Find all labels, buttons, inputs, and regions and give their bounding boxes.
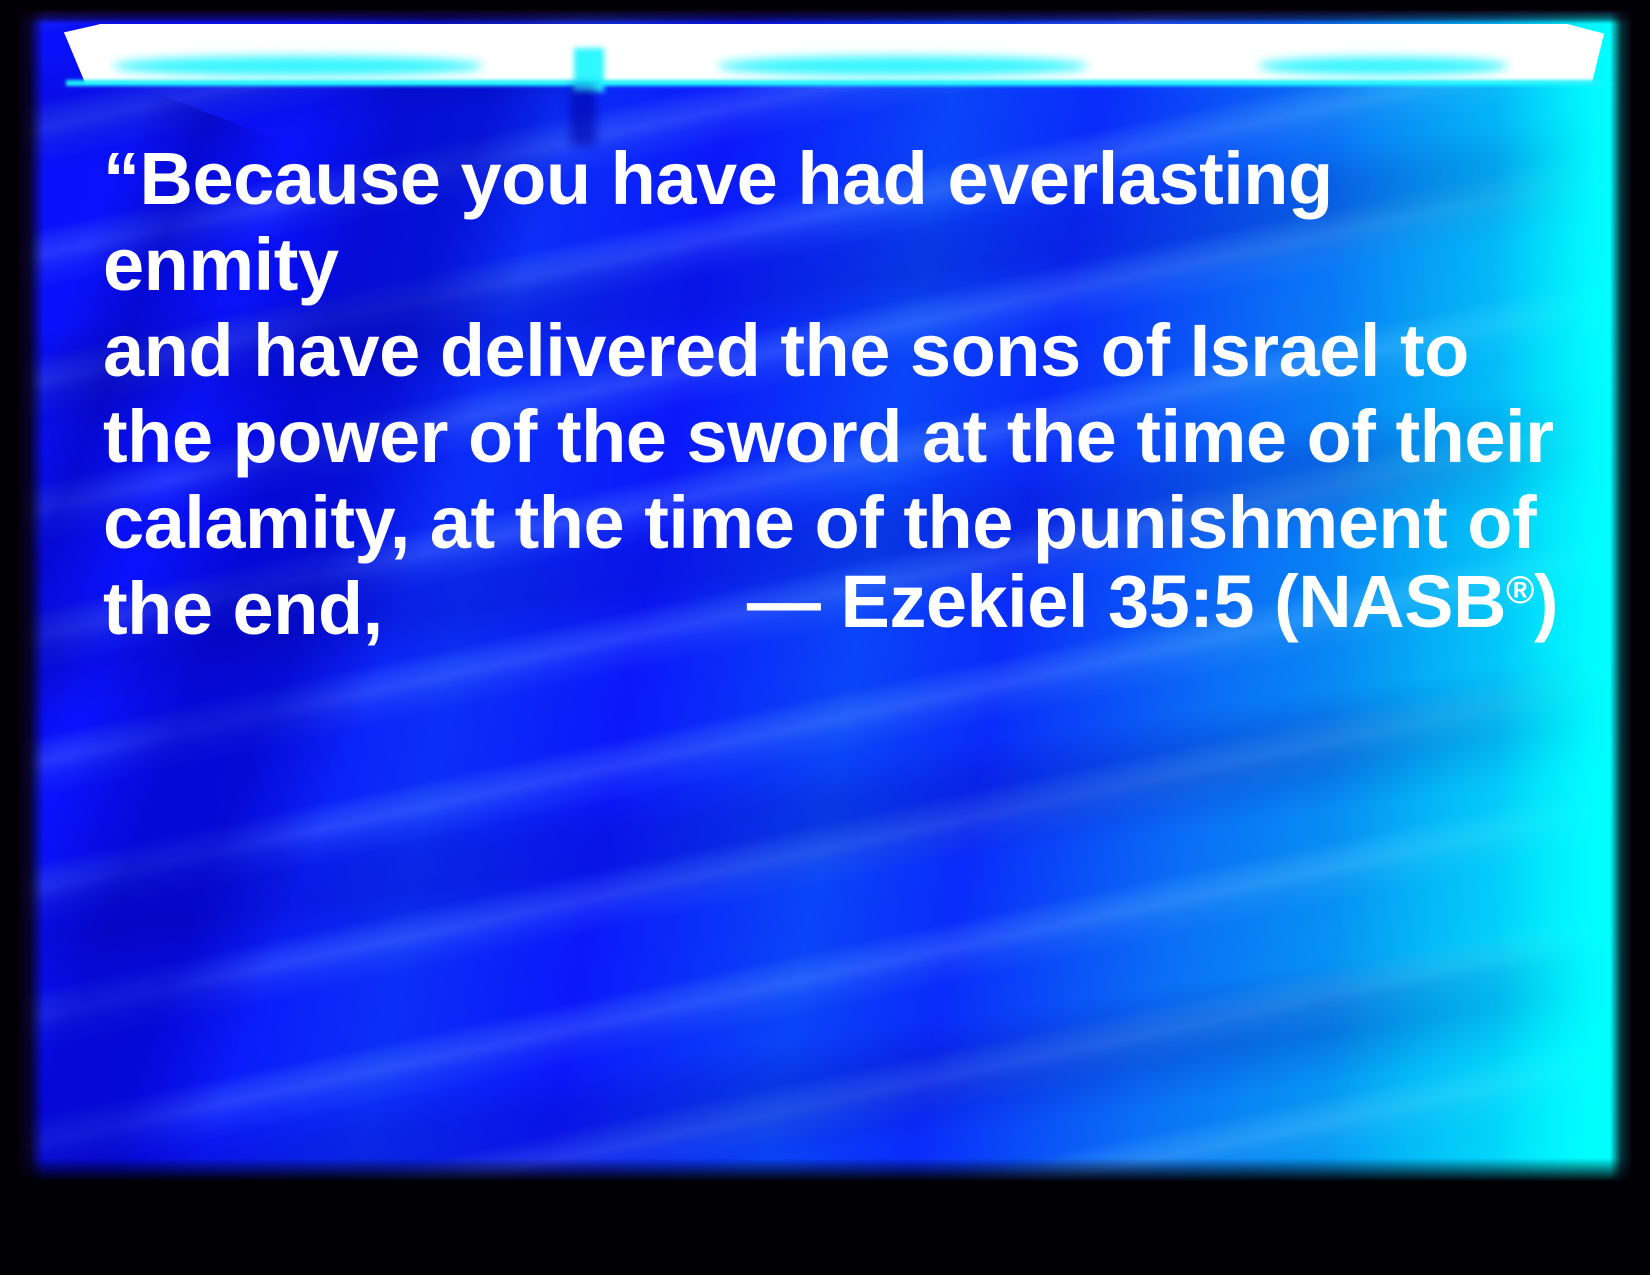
edge-shadow-top xyxy=(18,10,1632,24)
verse-citation: — Ezekiel 35:5 (NASB®) xyxy=(103,559,1558,645)
citation-suffix: ) xyxy=(1534,560,1558,643)
slide-canvas: “Because you have had everlasting enmity… xyxy=(18,10,1632,1220)
cyan-glow-blob-center xyxy=(718,56,1088,76)
cyan-underline-glow xyxy=(66,80,1602,86)
top-glow-banner xyxy=(18,10,1632,106)
registered-trademark-icon: ® xyxy=(1506,569,1534,612)
citation-prefix: — Ezekiel 35:5 (NASB xyxy=(747,560,1506,643)
edge-shadow-bottom xyxy=(18,1158,1632,1220)
edge-shadow-left xyxy=(18,10,44,1220)
cyan-glow-blob-right xyxy=(1258,57,1508,75)
edge-shadow-right xyxy=(1610,10,1632,1220)
cyan-glow-blob-left xyxy=(113,56,483,76)
bible-verse-slide: “Because you have had everlasting enmity… xyxy=(0,0,1650,1275)
